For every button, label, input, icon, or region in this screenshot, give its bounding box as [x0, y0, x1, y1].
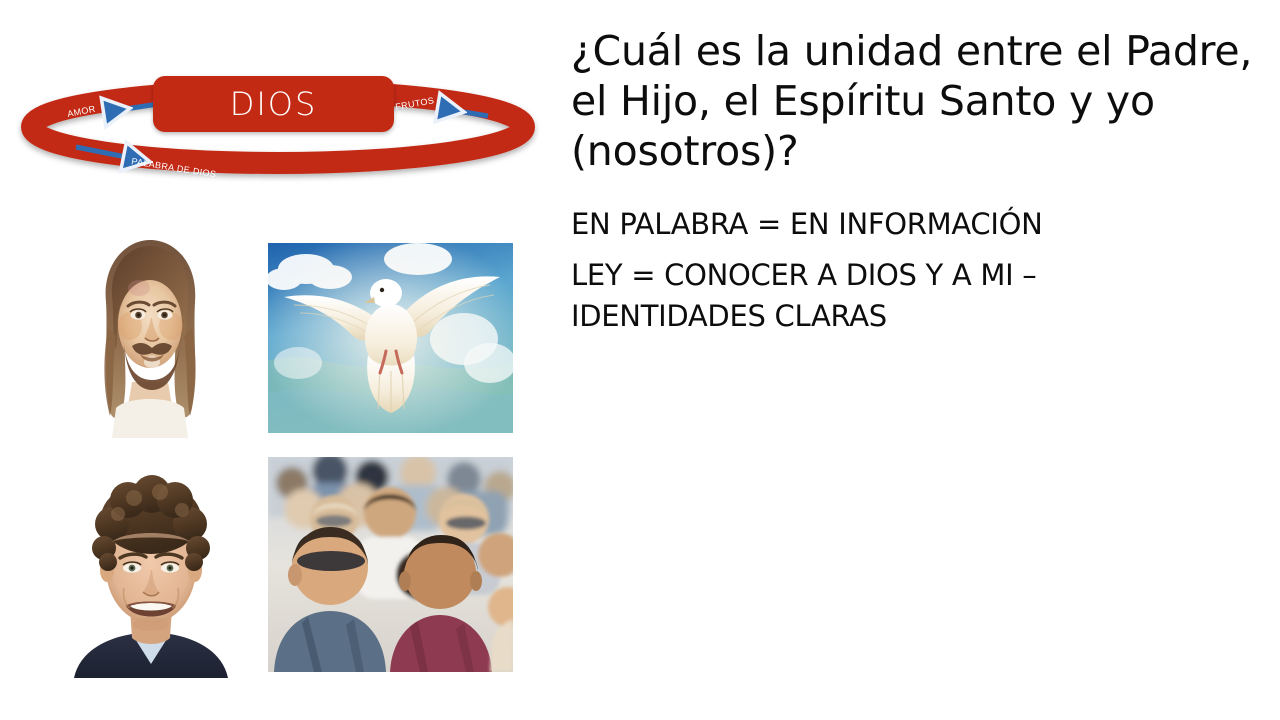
- white-dove-in-sky: [268, 243, 513, 433]
- man-headshot: [62, 458, 240, 678]
- jesus-watercolor-portrait: [82, 232, 218, 438]
- slide-heading: ¿Cuál es la unidad entre el Padre, el Hi…: [571, 26, 1261, 176]
- body-text-block: EN PALABRA = EN INFORMACIÓN LEY = CONOCE…: [571, 204, 1261, 337]
- crowd-of-people: [268, 457, 513, 672]
- dios-label: DIOS: [230, 85, 318, 123]
- body-line-1: EN PALABRA = EN INFORMACIÓN: [571, 204, 1261, 245]
- body-line-2: LEY = CONOCER A DIOS Y A MI – IDENTIDADE…: [571, 255, 1261, 337]
- slide-canvas: AMOR PALABRA DE DIOS FRUTOS DIOS: [0, 0, 1280, 720]
- text-column: ¿Cuál es la unidad entre el Padre, el Hi…: [571, 26, 1261, 347]
- dios-center-box: DIOS: [153, 76, 394, 132]
